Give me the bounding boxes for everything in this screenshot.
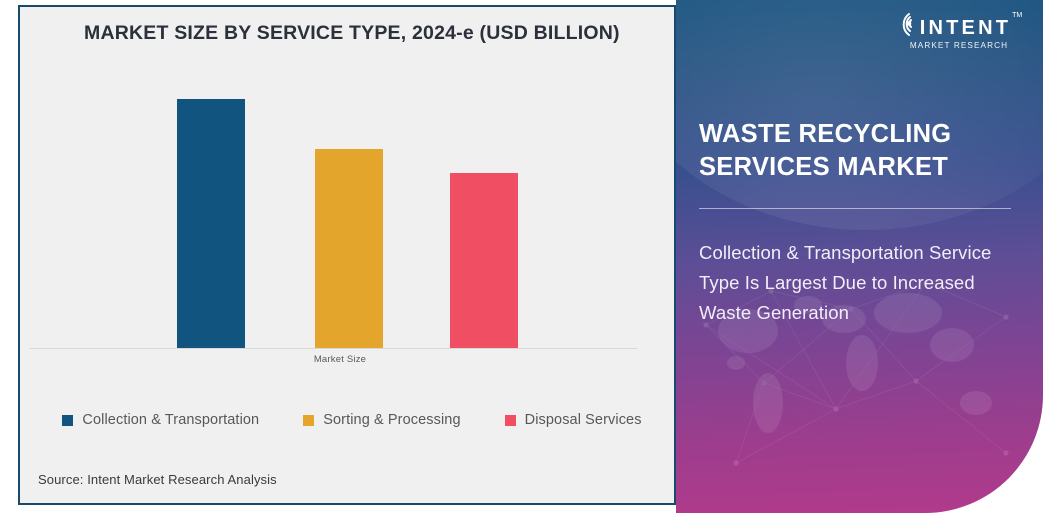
legend-item-label: Disposal Services xyxy=(525,412,642,428)
bar-chart-plot xyxy=(30,77,650,349)
source-note: Source: Intent Market Research Analysis xyxy=(38,472,277,487)
bar-collection-transportation xyxy=(177,99,245,348)
legend-item-label: Sorting & Processing xyxy=(323,412,460,428)
legend-item-sorting-processing[interactable]: Sorting & Processing xyxy=(303,412,460,428)
chart-card: MARKET SIZE BY SERVICE TYPE, 2024-e (USD… xyxy=(18,5,676,505)
brand-logo[interactable]: INTENT TM MARKET RESEARCH xyxy=(895,10,1023,50)
panel-divider xyxy=(699,208,1011,209)
legend-item-collection-transportation[interactable]: Collection & Transportation xyxy=(62,412,259,428)
x-axis-line xyxy=(30,348,637,349)
logo-wordmark: INTENT xyxy=(920,18,1011,38)
infographic-root: MARKET SIZE BY SERVICE TYPE, 2024-e (USD… xyxy=(0,0,1043,513)
logo-trademark: TM xyxy=(1012,12,1022,19)
chart-title: MARKET SIZE BY SERVICE TYPE, 2024-e (USD… xyxy=(84,22,654,45)
bar-disposal-services xyxy=(450,173,518,348)
x-axis-label: Market Size xyxy=(20,354,660,365)
legend-item-label: Collection & Transportation xyxy=(82,412,259,428)
legend-swatch-icon xyxy=(62,415,73,426)
legend-swatch-icon xyxy=(505,415,516,426)
panel-subtitle: Collection & Transportation Service Type… xyxy=(699,238,1017,328)
chart-legend: Collection & Transportation Sorting & Pr… xyxy=(20,412,676,428)
signal-waves-icon xyxy=(896,10,922,38)
panel-headline: WASTE RECYCLING SERVICES MARKET xyxy=(699,118,1009,183)
legend-swatch-icon xyxy=(303,415,314,426)
side-panel: INTENT TM MARKET RESEARCH WASTE RECYCLIN… xyxy=(676,0,1043,513)
logo-subtitle: MARKET RESEARCH xyxy=(895,41,1023,50)
bar-sorting-processing xyxy=(315,149,383,348)
legend-item-disposal-services[interactable]: Disposal Services xyxy=(505,412,642,428)
